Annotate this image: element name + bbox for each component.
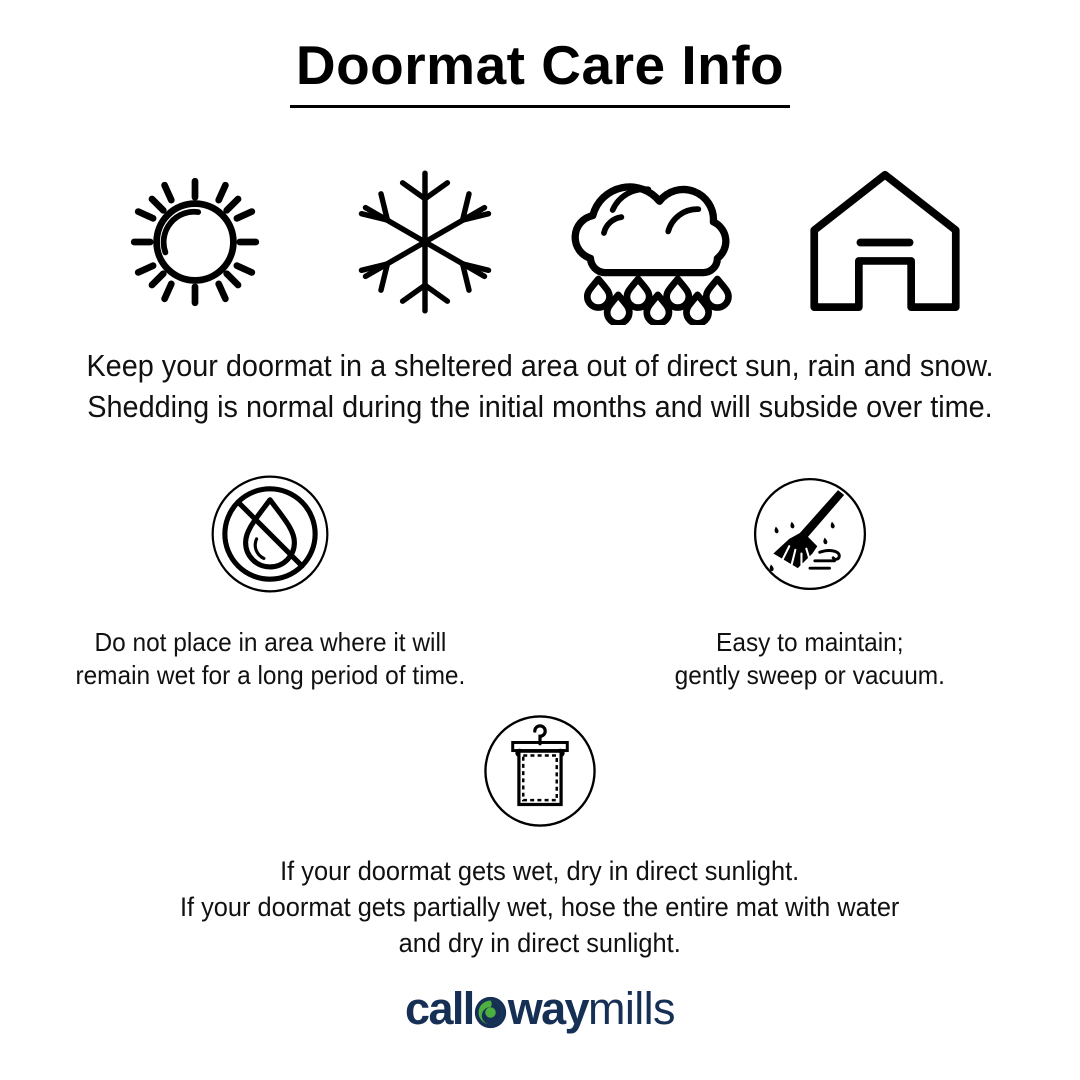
intro-line-1: Keep your doormat in a sheltered area ou… bbox=[38, 345, 1042, 386]
rain-cloud-icon bbox=[568, 160, 743, 325]
logo-text-way: way bbox=[508, 986, 588, 1031]
dry-icon-wrapper bbox=[478, 706, 602, 836]
weather-cell-sun bbox=[80, 152, 310, 332]
title-underline-rule bbox=[290, 105, 790, 108]
care-icon-wrapper bbox=[749, 470, 871, 598]
infographic-page: Doormat Care Info bbox=[0, 0, 1080, 1080]
dry-caption-line-2: If your doormat gets partially wet, hose… bbox=[180, 889, 899, 925]
logo-swirl-o-icon bbox=[474, 996, 507, 1029]
weather-cell-rain-cloud bbox=[540, 152, 770, 332]
no-water-icon bbox=[209, 473, 331, 595]
dry-instructions-block: If your doormat gets wet, dry in direct … bbox=[0, 706, 1080, 961]
care-caption-no-water: Do not place in area where it will remai… bbox=[75, 626, 465, 692]
logo-text-mills: mills bbox=[588, 986, 675, 1031]
brand-logo: call way mills bbox=[0, 986, 1080, 1031]
care-item-no-water: Do not place in area where it will remai… bbox=[0, 470, 540, 692]
sun-icon bbox=[115, 162, 275, 322]
page-title-block: Doormat Care Info bbox=[0, 34, 1080, 108]
care-item-sweep: Easy to maintain; gently sweep or vacuum… bbox=[540, 470, 1080, 692]
dry-caption: If your doormat gets wet, dry in direct … bbox=[180, 853, 899, 961]
dry-caption-line-3: and dry in direct sunlight. bbox=[180, 925, 899, 961]
care-caption-line-2: remain wet for a long period of time. bbox=[75, 659, 465, 692]
weather-cell-snowflake bbox=[310, 152, 540, 332]
broom-icon bbox=[749, 473, 871, 595]
care-items-row: Do not place in area where it will remai… bbox=[0, 470, 1080, 692]
care-caption-line-1: Do not place in area where it will bbox=[75, 626, 465, 659]
intro-paragraph: Keep your doormat in a sheltered area ou… bbox=[0, 345, 1080, 427]
care-caption-sweep: Easy to maintain; gently sweep or vacuum… bbox=[675, 626, 945, 692]
page-title: Doormat Care Info bbox=[0, 34, 1080, 96]
snowflake-icon bbox=[345, 162, 505, 322]
care-caption-line-1: Easy to maintain; bbox=[675, 626, 945, 659]
hang-dry-icon bbox=[478, 709, 602, 833]
house-icon bbox=[805, 165, 965, 320]
logo-text-call: call bbox=[405, 986, 474, 1031]
intro-line-2: Shedding is normal during the initial mo… bbox=[38, 386, 1042, 427]
care-icon-wrapper bbox=[209, 470, 331, 598]
care-caption-line-2: gently sweep or vacuum. bbox=[675, 659, 945, 692]
weather-cell-house bbox=[770, 152, 1000, 332]
weather-icon-row bbox=[0, 152, 1080, 332]
dry-caption-line-1: If your doormat gets wet, dry in direct … bbox=[180, 853, 899, 889]
